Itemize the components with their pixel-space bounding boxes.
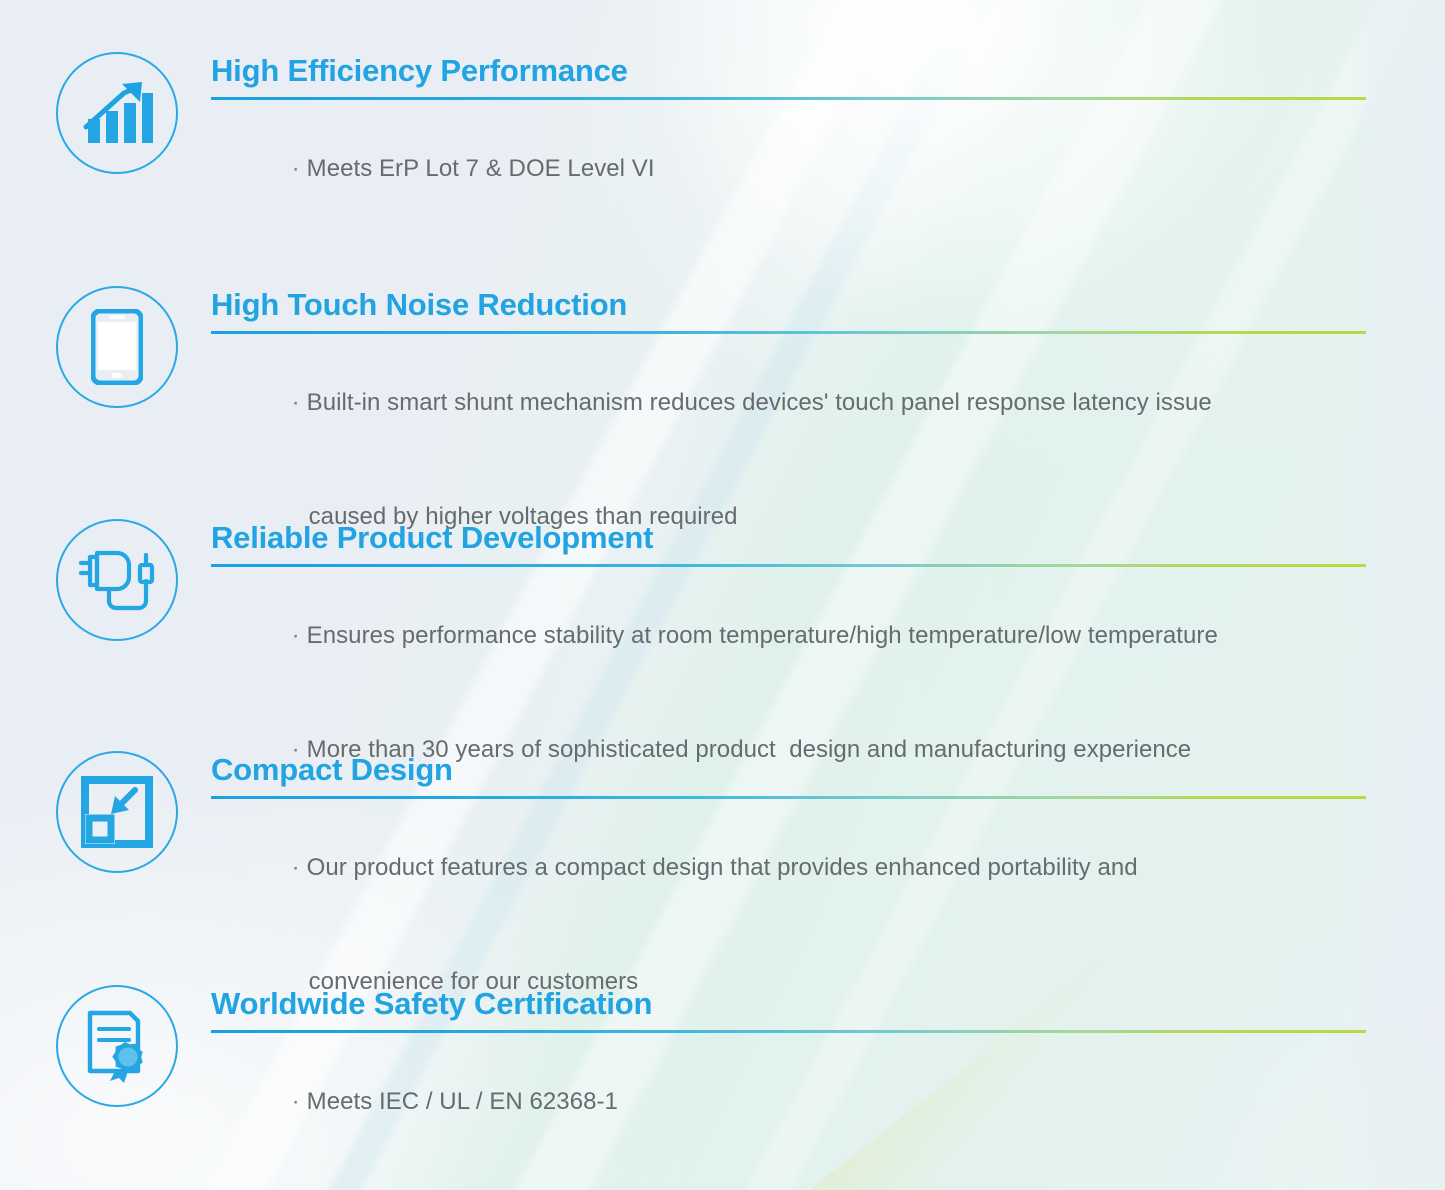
feature-body: High Efficiency Performance ·Meets ErP L…	[211, 52, 1366, 226]
feature-bullet-line: ·Meets ErP Lot 7 & DOE Level VI	[211, 112, 1366, 226]
bullet-text: Our product features a compact design th…	[307, 854, 1138, 881]
bar-chart-growth-icon	[56, 52, 178, 174]
bullet-mark: ·	[292, 155, 300, 182]
certificate-seal-icon	[56, 985, 178, 1107]
feature-body: Worldwide Safety Certification ·Meets IE…	[211, 985, 1366, 1159]
feature-bullet-line: ·Our product features a compact design t…	[211, 811, 1366, 925]
bullet-mark: ·	[292, 1088, 300, 1115]
feature-bullet-line: ·Ensures performance stability at room t…	[211, 579, 1366, 693]
feature-title: Reliable Product Development	[211, 519, 1366, 557]
feature-highlights-page: High Efficiency Performance ·Meets ErP L…	[0, 0, 1445, 1190]
feature-bullet-line: ·Built-in smart shunt mechanism reduces …	[211, 346, 1366, 460]
feature-title: Worldwide Safety Certification	[211, 985, 1366, 1023]
feature-divider	[211, 1030, 1366, 1033]
smartphone-icon	[56, 286, 178, 408]
feature-bullet-line: ·Meets IEC / UL / EN 62368-1	[211, 1045, 1366, 1159]
bullet-text: Ensures performance stability at room te…	[307, 622, 1218, 649]
feature-lines: ·Meets IEC / UL / EN 62368-1	[211, 1045, 1366, 1159]
feature-divider	[211, 564, 1366, 567]
bullet-mark: ·	[292, 389, 300, 416]
bullet-text: Meets ErP Lot 7 & DOE Level VI	[307, 155, 655, 182]
bullet-mark: ·	[292, 854, 300, 881]
power-adapter-icon	[56, 519, 178, 641]
bullet-text: Meets IEC / UL / EN 62368-1	[307, 1088, 618, 1115]
feature-title: High Touch Noise Reduction	[211, 286, 1366, 324]
bullet-mark: ·	[292, 622, 300, 649]
feature-title: Compact Design	[211, 751, 1366, 789]
compact-resize-icon	[56, 751, 178, 873]
feature-divider	[211, 796, 1366, 799]
feature-divider	[211, 331, 1366, 334]
feature-lines: ·Meets ErP Lot 7 & DOE Level VI	[211, 112, 1366, 226]
feature-title: High Efficiency Performance	[211, 52, 1366, 90]
feature-divider	[211, 97, 1366, 100]
bullet-text: Built-in smart shunt mechanism reduces d…	[307, 389, 1212, 416]
